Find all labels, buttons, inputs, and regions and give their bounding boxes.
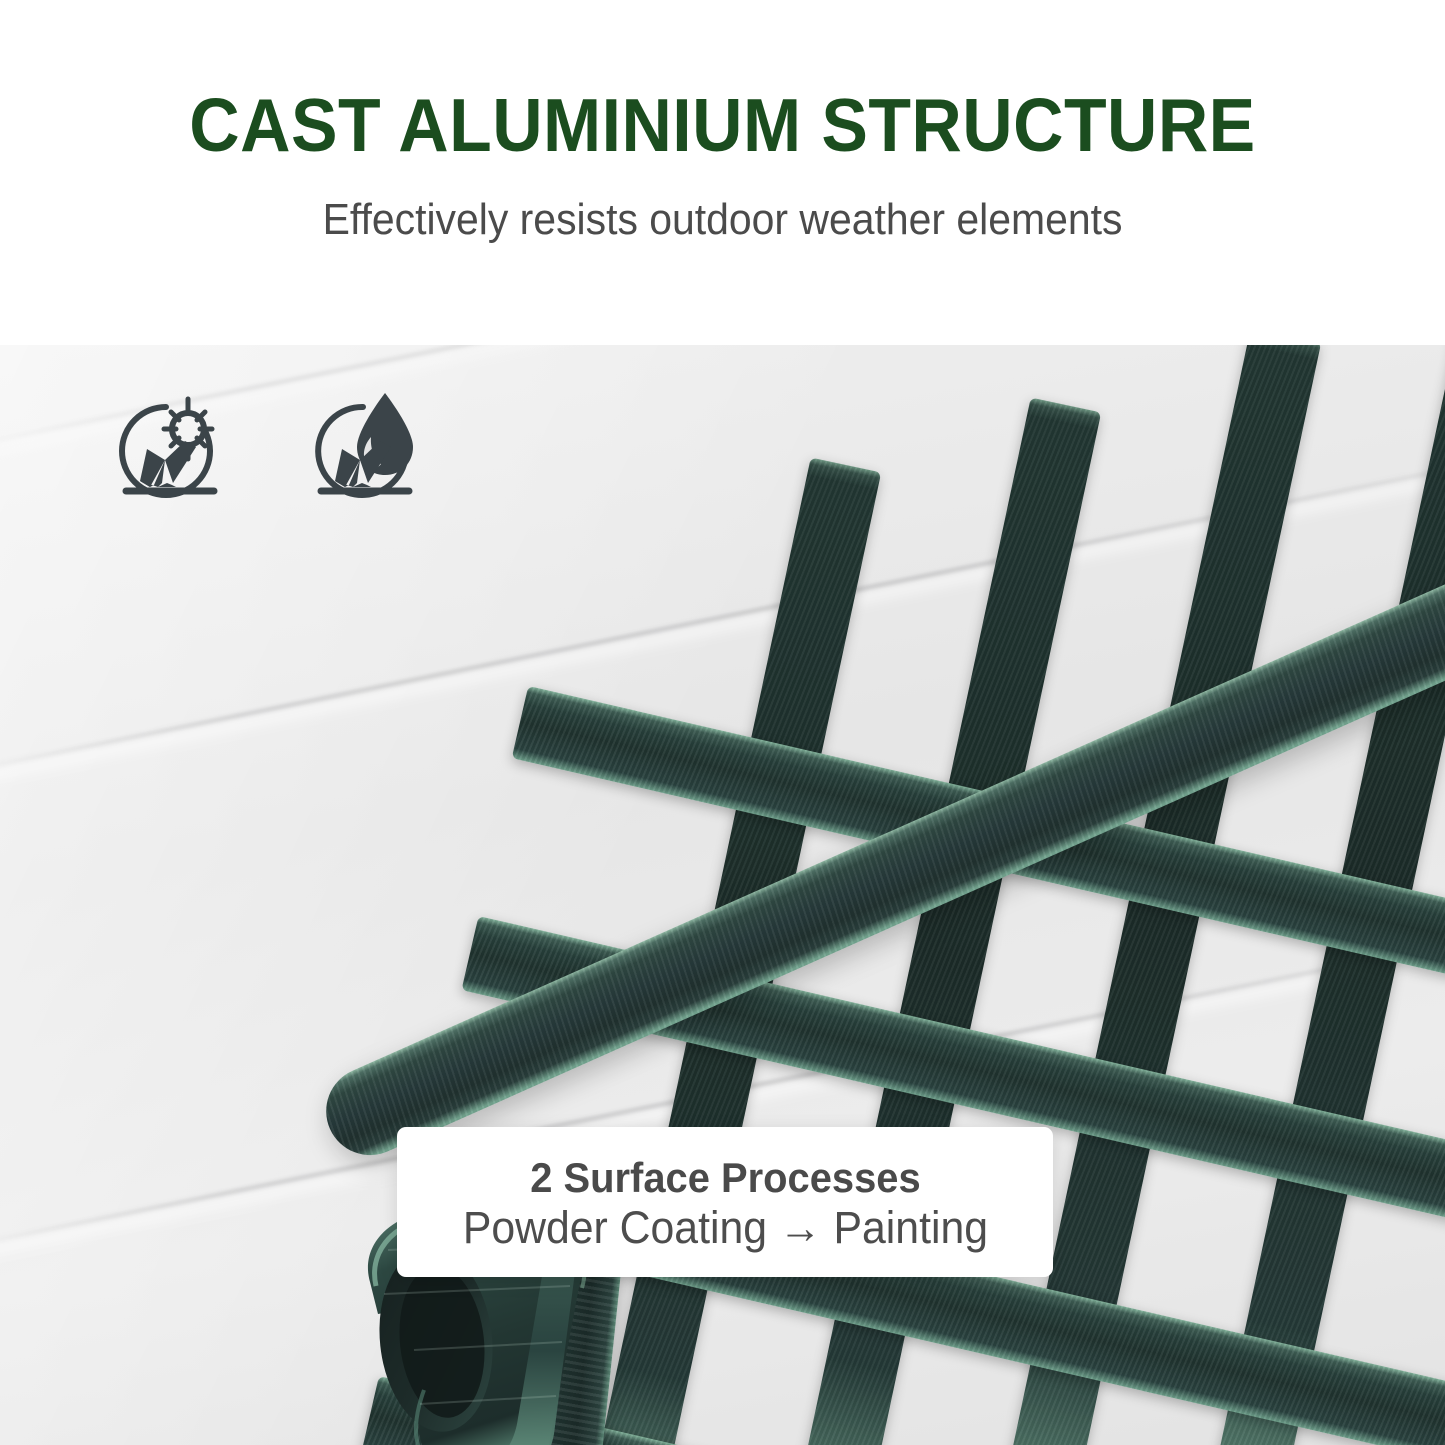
feature-icon-group: [110, 385, 420, 520]
caption-card: 2 Surface Processes Powder Coating → Pai…: [397, 1127, 1053, 1277]
surface-check-mark: [140, 441, 196, 487]
product-feature-banner: CAST ALUMINIUM STRUCTURE Effectively res…: [0, 0, 1445, 1445]
caption-title: 2 Surface Processes: [530, 1154, 920, 1201]
water-resistant-icon: [305, 385, 420, 520]
uv-resistant-icon: [110, 385, 225, 520]
page-subtitle: Effectively resists outdoor weather elem…: [51, 198, 1395, 242]
caption-subtitle: Powder Coating → Painting: [462, 1201, 987, 1254]
header-band: CAST ALUMINIUM STRUCTURE Effectively res…: [0, 0, 1445, 345]
page-title: CAST ALUMINIUM STRUCTURE: [51, 88, 1395, 163]
